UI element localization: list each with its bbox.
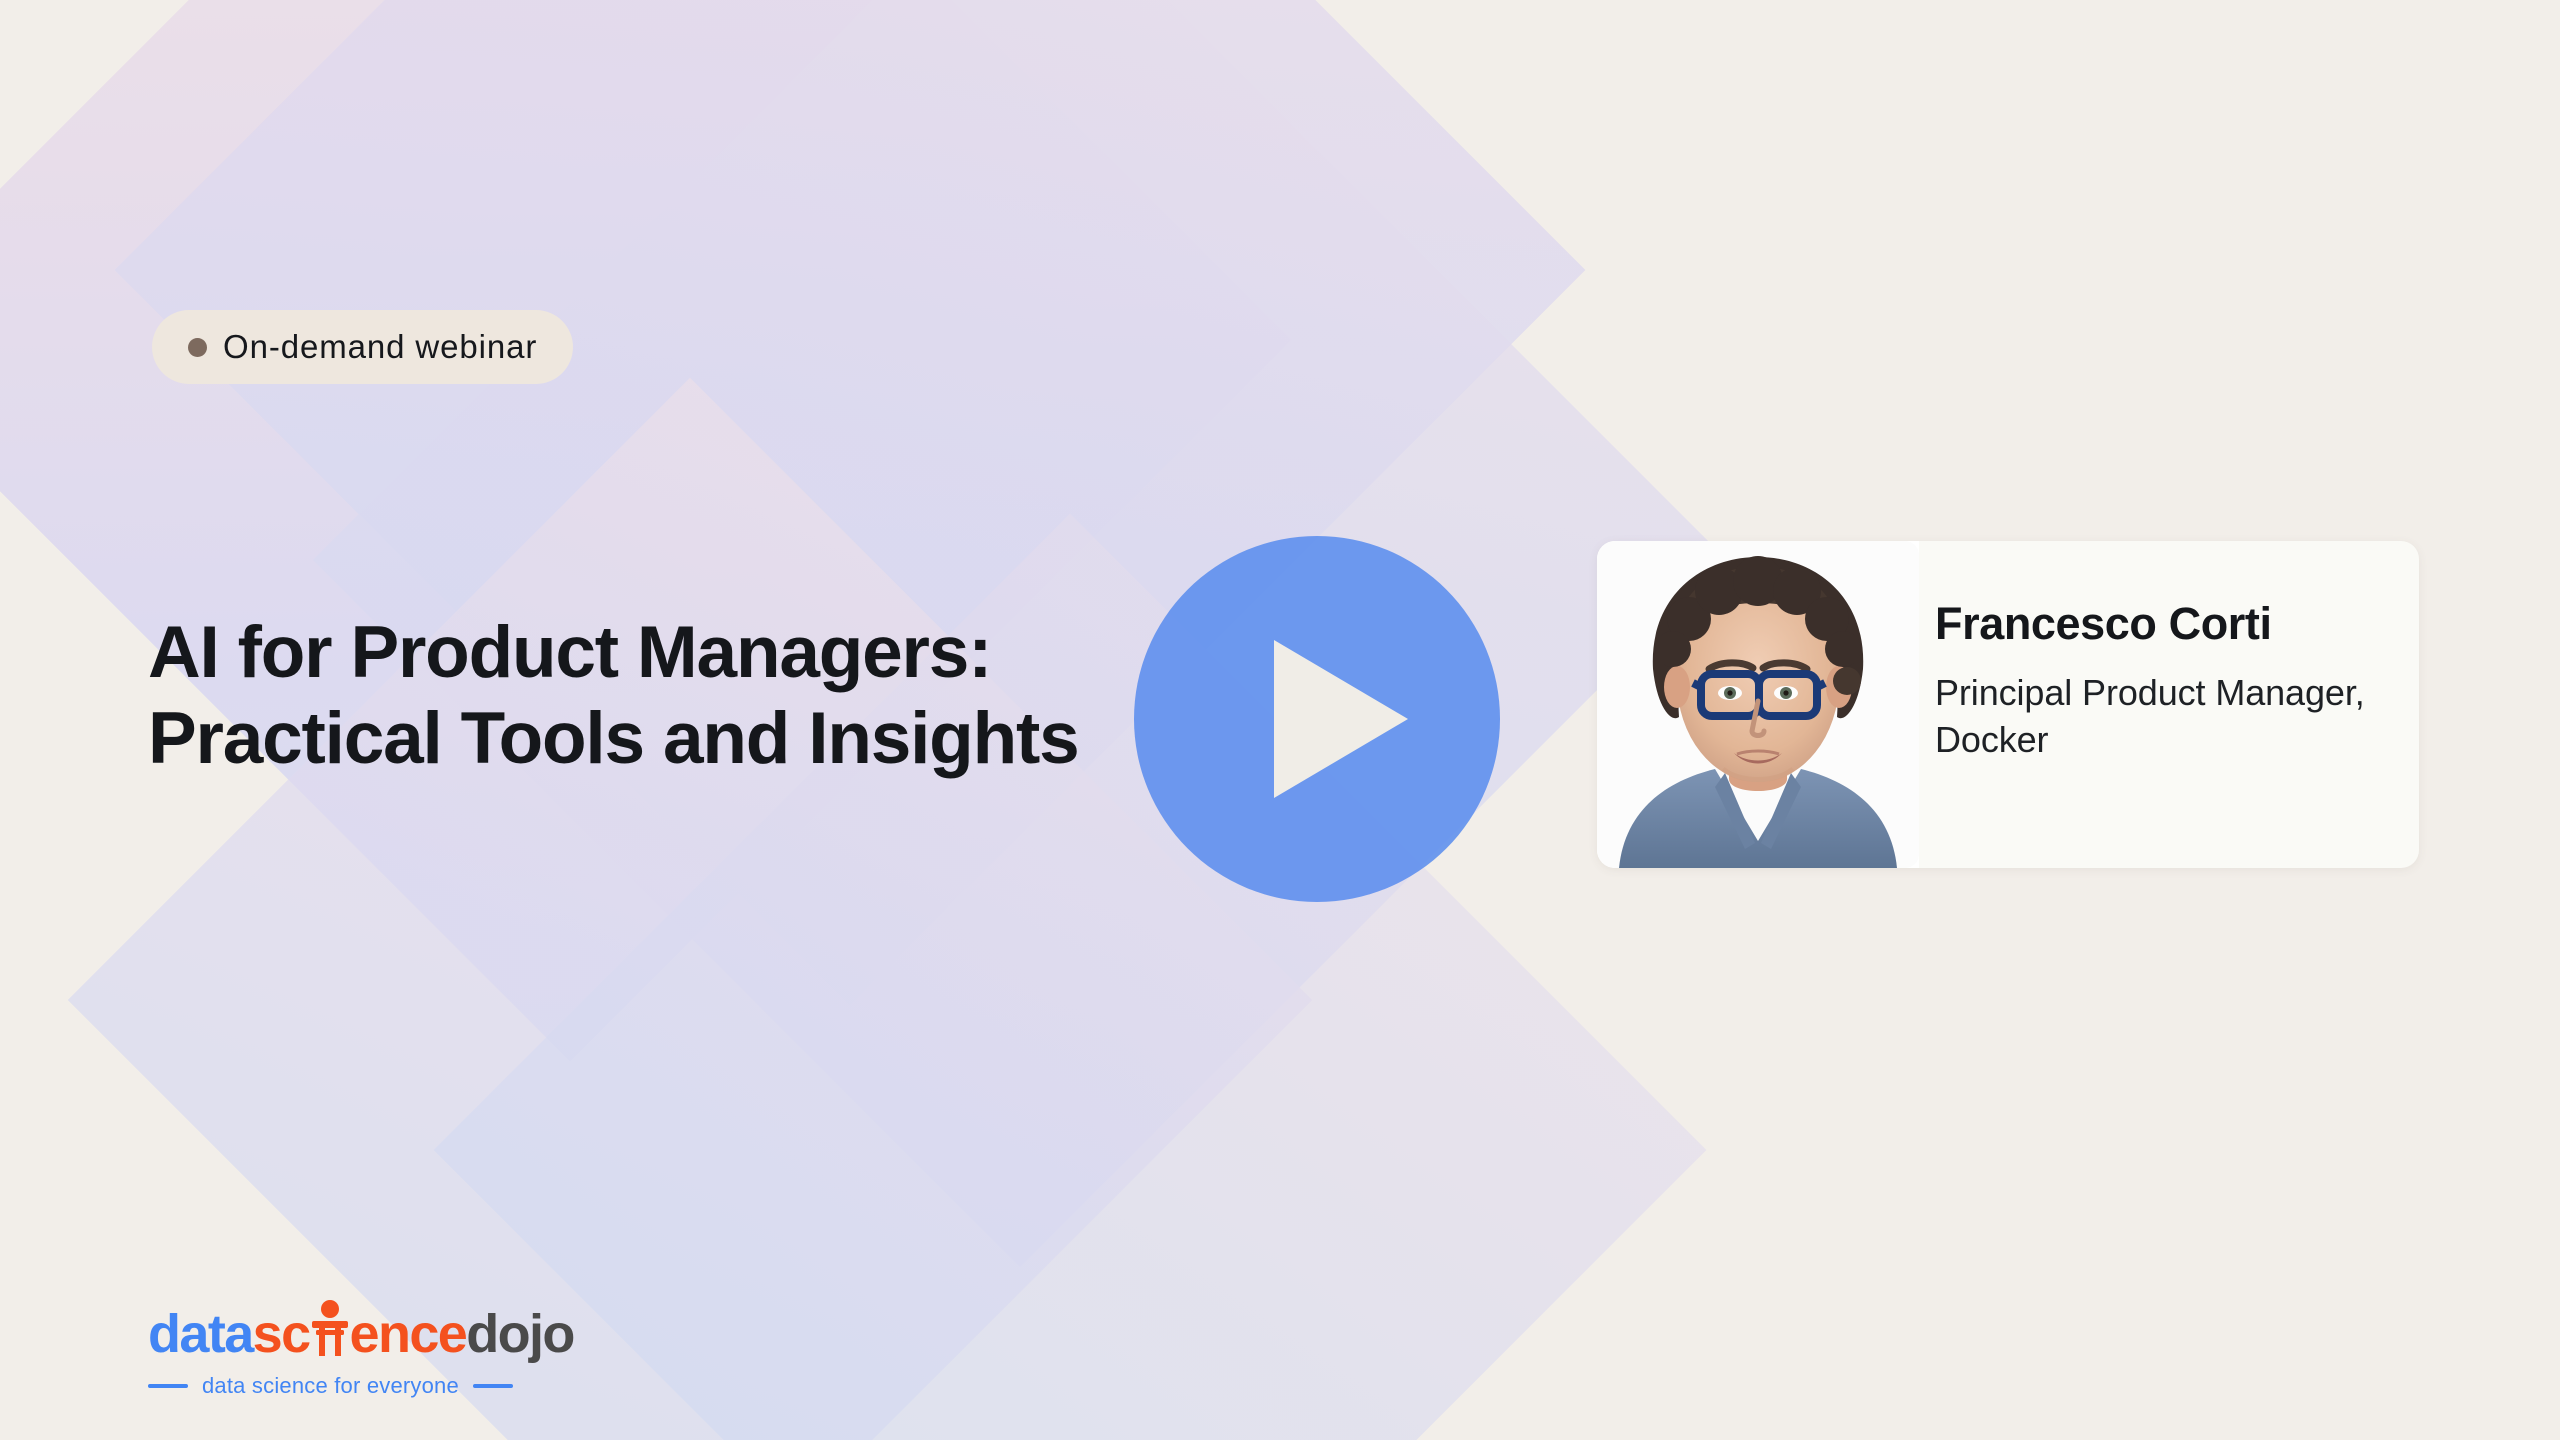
speaker-role-line-1: Principal Product Manager,: [1935, 669, 2399, 717]
badge-dot-icon: [188, 338, 207, 357]
logo-tagline-row: data science for everyone: [148, 1373, 574, 1399]
avatar: [1597, 541, 1919, 868]
speaker-role: Principal Product Manager, Docker: [1935, 669, 2399, 764]
play-triangle-icon: [1274, 640, 1408, 798]
webinar-promo-slide: On-demand webinar AI for Product Manager…: [0, 0, 2560, 1440]
logo-part-data: data: [148, 1307, 253, 1361]
torii-gate-icon: [310, 1298, 350, 1352]
background-diamond-4: [68, 378, 1313, 1440]
tagline-dash-left-icon: [148, 1384, 188, 1388]
on-demand-webinar-badge: On-demand webinar: [152, 310, 573, 384]
logo-part-ence: ence: [350, 1307, 467, 1361]
speaker-info: Francesco Corti Principal Product Manage…: [1919, 541, 2419, 868]
datasciencedojo-logo[interactable]: data sc ence dojo data science for every…: [148, 1298, 574, 1399]
speaker-name: Francesco Corti: [1935, 599, 2399, 649]
avatar-portrait-image: [1597, 541, 1919, 868]
play-button[interactable]: [1134, 536, 1500, 902]
badge-label: On-demand webinar: [223, 328, 537, 366]
logo-tagline: data science for everyone: [202, 1373, 459, 1399]
logo-part-dojo: dojo: [466, 1307, 574, 1361]
background-diamond-1: [0, 0, 1291, 1061]
logo-part-sc: sc: [253, 1307, 310, 1361]
speaker-role-line-2: Docker: [1935, 716, 2399, 764]
tagline-dash-right-icon: [473, 1384, 513, 1388]
logo-wordmark: data sc ence dojo: [148, 1298, 574, 1361]
speaker-card: Francesco Corti Principal Product Manage…: [1597, 541, 2419, 868]
